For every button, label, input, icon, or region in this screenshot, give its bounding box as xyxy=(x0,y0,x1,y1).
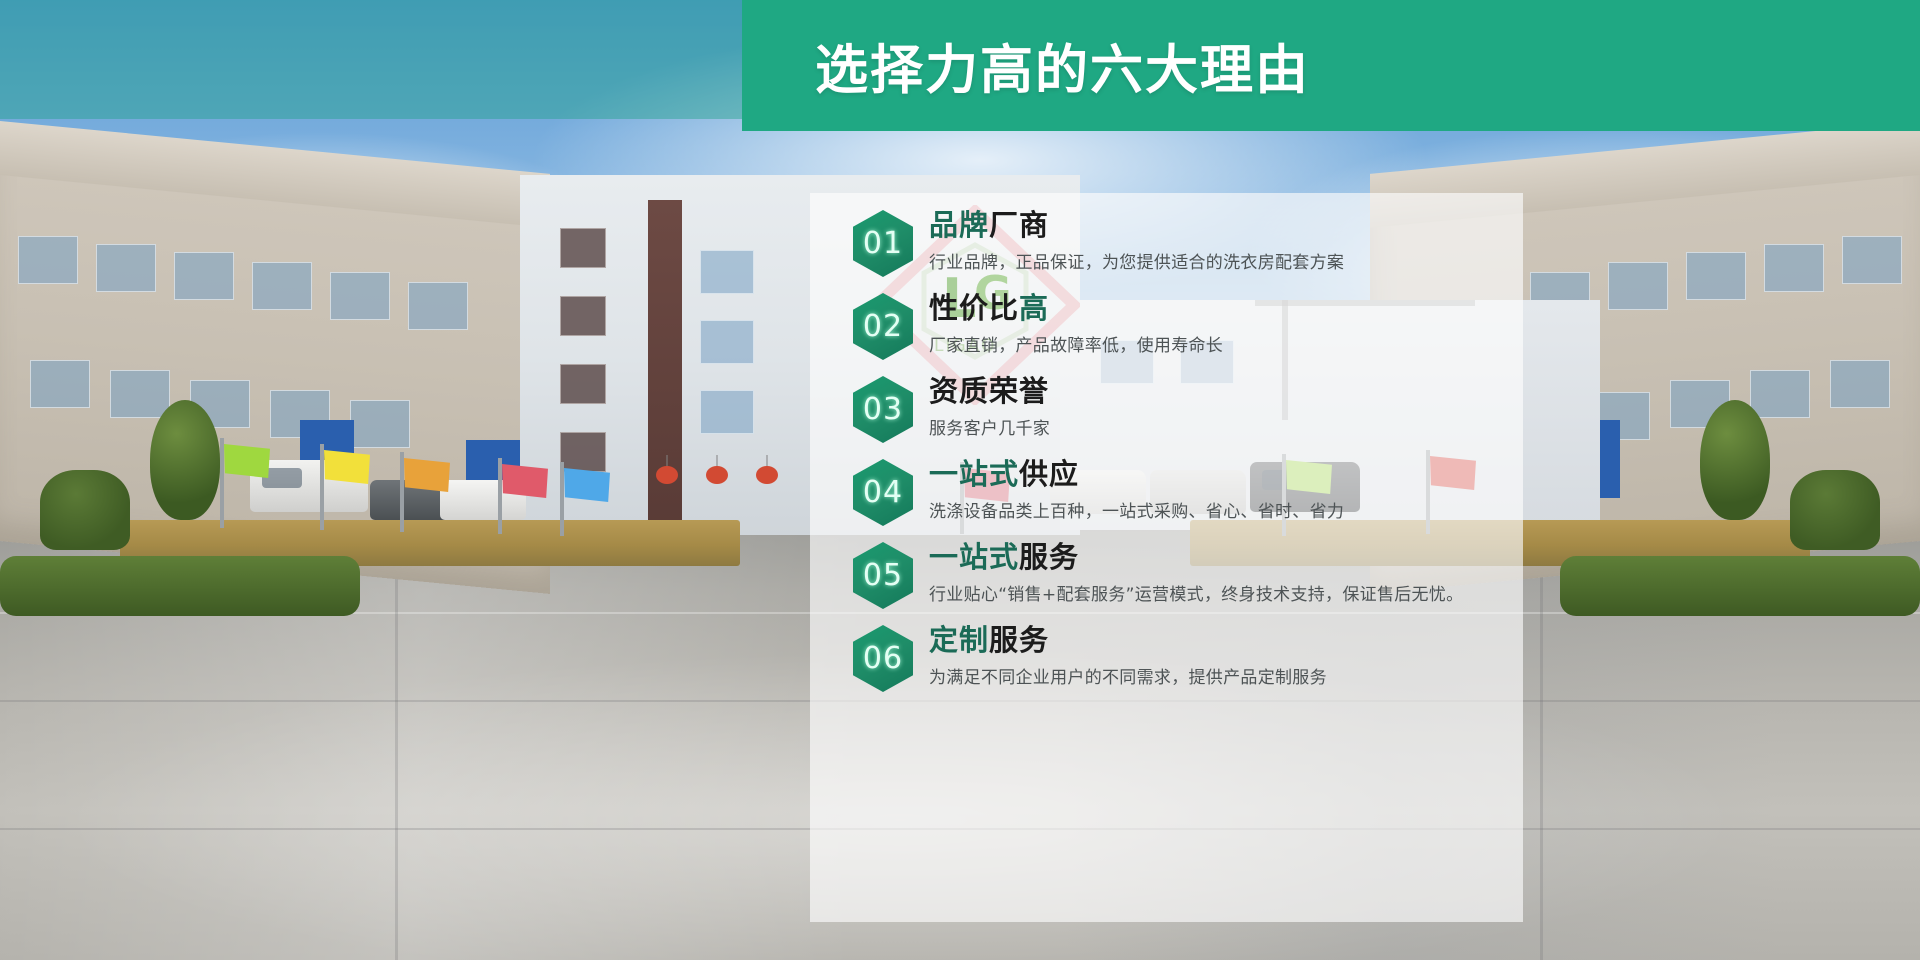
building-window xyxy=(110,370,170,418)
flag-cloth xyxy=(404,458,450,492)
reason-title-green-part: 高 xyxy=(1019,291,1049,325)
reason-text-06: 定制服务 为满足不同企业用户的不同需求，提供产品定制服务 xyxy=(917,621,1513,692)
header-left-overlay xyxy=(0,0,742,119)
building-window xyxy=(30,360,90,408)
tree xyxy=(1700,400,1770,520)
reason-desc-05: 行业贴心“销售+配套服务”运营模式，终身技术支持，保证售后无忧。 xyxy=(929,582,1509,608)
reason-title-05: 一站式服务 xyxy=(929,540,1513,575)
pavement-seam xyxy=(1540,560,1543,960)
flag-cloth xyxy=(224,444,270,478)
building-window xyxy=(560,364,606,404)
reason-item-06: 06 定制服务 为满足不同企业用户的不同需求，提供产品定制服务 xyxy=(853,621,1513,692)
building-window xyxy=(700,320,754,364)
building-window xyxy=(1750,370,1810,418)
page-header: 选择力高的六大理由 xyxy=(0,0,1920,131)
reason-item-02: 02 性价比高 厂家直销，产品故障率低，使用寿命长 xyxy=(853,289,1513,360)
reason-badge-wrap-03: 03 xyxy=(853,376,917,443)
reason-title-dark-part: 服务 xyxy=(989,623,1049,657)
pavement-seam xyxy=(395,560,398,960)
hexagon-number-badge: 01 xyxy=(853,210,913,277)
lantern xyxy=(656,466,678,484)
reason-desc-02: 厂家直销，产品故障率低，使用寿命长 xyxy=(929,333,1513,359)
reason-title-06: 定制服务 xyxy=(929,623,1513,658)
flag-pole xyxy=(400,452,404,532)
reason-badge-wrap-05: 05 xyxy=(853,542,917,609)
reason-badge-wrap-06: 06 xyxy=(853,625,917,692)
building-window xyxy=(174,252,234,300)
reason-text-05: 一站式服务 行业贴心“销售+配套服务”运营模式，终身技术支持，保证售后无忧。 xyxy=(917,538,1513,609)
hexagon-number-badge: 04 xyxy=(853,459,913,526)
flag-cloth xyxy=(564,468,610,502)
bush xyxy=(40,470,130,550)
reason-title-01: 品牌厂商 xyxy=(929,208,1513,243)
building-window xyxy=(1842,236,1902,284)
flag-pole xyxy=(498,458,502,534)
building-window xyxy=(408,282,468,330)
tree xyxy=(150,400,220,520)
hexagon-number-badge: 03 xyxy=(853,376,913,443)
reasons-list: 01 品牌厂商 行业品牌，正品保证，为您提供适合的洗衣房配套方案 02 性价比高… xyxy=(853,206,1513,704)
building-window xyxy=(330,272,390,320)
building-window xyxy=(96,244,156,292)
reason-desc-06: 为满足不同企业用户的不同需求，提供产品定制服务 xyxy=(929,665,1513,691)
hexagon-number-badge: 02 xyxy=(853,293,913,360)
flag-pole xyxy=(220,438,224,528)
flag-pole xyxy=(320,444,324,530)
building-window xyxy=(1686,252,1746,300)
reason-title-04: 一站式供应 xyxy=(929,457,1513,492)
reason-text-01: 品牌厂商 行业品牌，正品保证，为您提供适合的洗衣房配套方案 xyxy=(917,206,1513,277)
building-window xyxy=(560,432,606,472)
reason-title-green-part: 一站式 xyxy=(929,540,1019,574)
reason-desc-01: 行业品牌，正品保证，为您提供适合的洗衣房配套方案 xyxy=(929,250,1513,276)
building-window xyxy=(252,262,312,310)
building-window xyxy=(700,390,754,434)
reason-title-green-part: 品牌 xyxy=(929,208,989,242)
building-window xyxy=(560,296,606,336)
hedge xyxy=(1560,556,1920,616)
building-window xyxy=(1830,360,1890,408)
reason-text-04: 一站式供应 洗涤设备品类上百种，一站式采购、省心、省时、省力 xyxy=(917,455,1513,526)
page-title: 选择力高的六大理由 xyxy=(815,0,1310,131)
reason-title-dark-part: 服务 xyxy=(1019,540,1079,574)
building-window xyxy=(350,400,410,448)
flag-cloth xyxy=(502,464,548,498)
reason-badge-wrap-04: 04 xyxy=(853,459,917,526)
lantern xyxy=(756,466,778,484)
building-window xyxy=(700,250,754,294)
bush xyxy=(1790,470,1880,550)
reason-desc-03: 服务客户几千家 xyxy=(929,416,1513,442)
hexagon-number-badge: 06 xyxy=(853,625,913,692)
reason-item-05: 05 一站式服务 行业贴心“销售+配套服务”运营模式，终身技术支持，保证售后无忧… xyxy=(853,538,1513,609)
lantern xyxy=(706,466,728,484)
reason-badge-wrap-01: 01 xyxy=(853,210,917,277)
flag-cloth xyxy=(324,450,370,484)
reason-text-03: 资质荣誉 服务客户几千家 xyxy=(917,372,1513,443)
reason-title-03: 资质荣誉 xyxy=(929,374,1513,409)
reason-title-green-part: 一站式 xyxy=(929,457,1019,491)
building-window xyxy=(18,236,78,284)
reason-title-dark-part: 厂商 xyxy=(989,208,1049,242)
reason-item-01: 01 品牌厂商 行业品牌，正品保证，为您提供适合的洗衣房配套方案 xyxy=(853,206,1513,277)
reason-desc-04: 洗涤设备品类上百种，一站式采购、省心、省时、省力 xyxy=(929,499,1513,525)
reason-title-dark-part: 供应 xyxy=(1019,457,1079,491)
reason-text-02: 性价比高 厂家直销，产品故障率低，使用寿命长 xyxy=(917,289,1513,360)
building-window xyxy=(560,228,606,268)
reason-badge-wrap-02: 02 xyxy=(853,293,917,360)
reason-item-04: 04 一站式供应 洗涤设备品类上百种，一站式采购、省心、省时、省力 xyxy=(853,455,1513,526)
poster-stage: 选择力高的六大理由 L G LIGAO 01 品牌厂商 行业品牌，正品保证，为您… xyxy=(0,0,1920,960)
reason-title-dark-part: 资质荣誉 xyxy=(929,374,1049,408)
reason-title-dark-part: 性价比 xyxy=(929,291,1019,325)
reason-item-03: 03 资质荣誉 服务客户几千家 xyxy=(853,372,1513,443)
hexagon-number-badge: 05 xyxy=(853,542,913,609)
flag-pole xyxy=(560,462,564,536)
building-window xyxy=(1608,262,1668,310)
reason-title-02: 性价比高 xyxy=(929,291,1513,326)
hedge xyxy=(0,556,360,616)
reason-title-green-part: 定制 xyxy=(929,623,989,657)
building-window xyxy=(1764,244,1824,292)
